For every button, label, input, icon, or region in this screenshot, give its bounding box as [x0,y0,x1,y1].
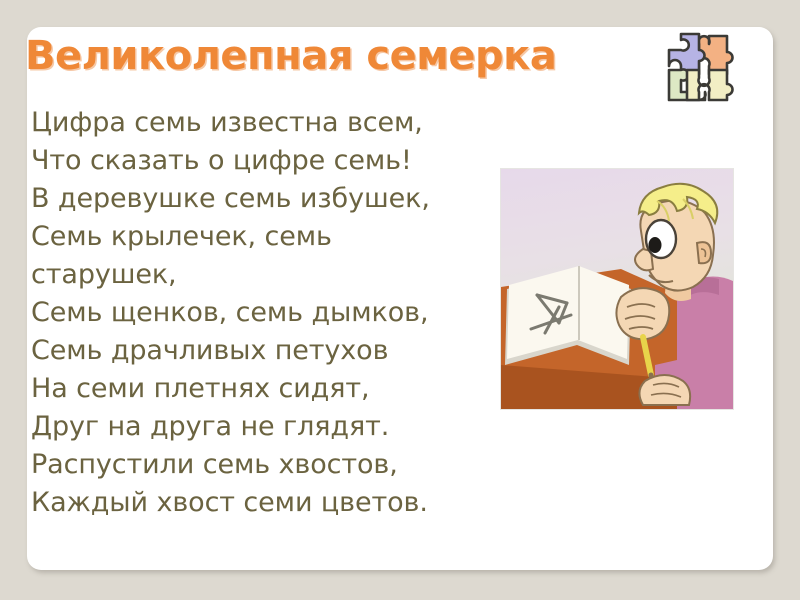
poem-line: Распустили семь хвостов, [31,446,531,484]
poem-line: Что сказать о цифре семь! [31,142,531,180]
page-title: Великолепная семерка [25,36,625,76]
poem-line: На семи плетнях сидят, [31,370,531,408]
poem-line: Семь щенков, семь дымков, [31,294,531,332]
slide-root: Великолепная семерка Цифра семь известна… [0,0,800,600]
poem-line: Семь драчливых петухов [31,332,531,370]
jigsaw-puzzle-icon [655,22,737,108]
poem-line: Друг на друга не глядят. [31,408,531,446]
poem-line: Каждый хвост семи цветов. [31,484,531,522]
poem-text-block: Цифра семь известна всем, Что сказать о … [31,104,531,522]
poem-line: В деревушке семь избушек, [31,180,531,218]
poem-line: старушек, [31,256,531,294]
poem-line: Семь крылечек, семь [31,218,531,256]
poem-line: Цифра семь известна всем, [31,104,531,142]
boy-thinking-with-book-illustration [501,169,733,409]
